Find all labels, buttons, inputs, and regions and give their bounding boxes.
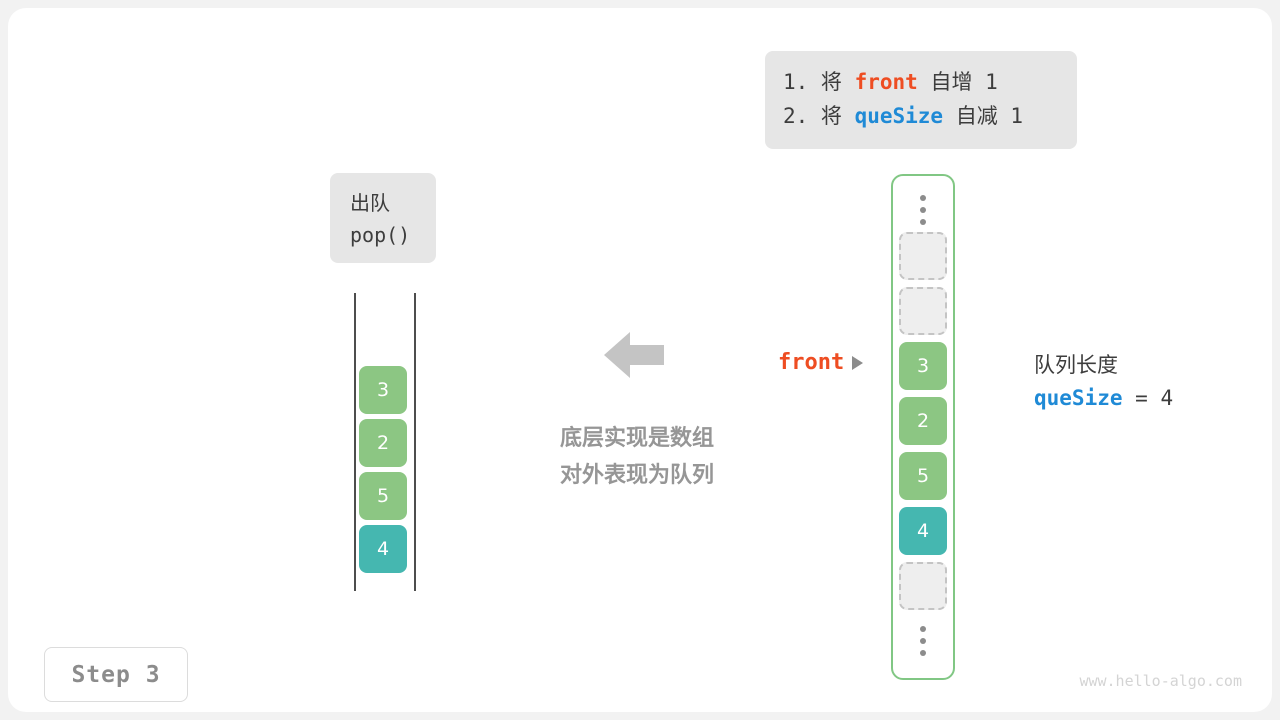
diagram-canvas: 1. 将 front 自增 1 2. 将 queSize 自减 1 出队 pop… bbox=[0, 0, 1280, 720]
array-cell-empty bbox=[899, 287, 947, 335]
array-cell-empty bbox=[899, 562, 947, 610]
step-badge: Step 3 bbox=[44, 647, 188, 702]
queue-cell: 5 bbox=[359, 472, 407, 520]
front-keyword: front bbox=[855, 70, 918, 94]
operation-callout: 1. 将 front 自增 1 2. 将 queSize 自减 1 bbox=[765, 51, 1077, 149]
quesize-variable: queSize bbox=[1034, 386, 1123, 410]
implementation-note-line-1: 底层实现是数组 bbox=[537, 420, 737, 457]
callout-line-1-suffix: 自增 1 bbox=[918, 70, 998, 94]
queue-cell: 4 bbox=[359, 525, 407, 573]
implementation-note-line-2: 对外表现为队列 bbox=[537, 457, 737, 494]
front-pointer: front bbox=[778, 350, 863, 375]
quesize-value: = 4 bbox=[1123, 386, 1174, 410]
queue-size-title: 队列长度 bbox=[1034, 349, 1173, 381]
callout-line-2-prefix: 2. 将 bbox=[783, 104, 855, 128]
pop-label-line-2: pop() bbox=[350, 219, 436, 251]
front-pointer-label: front bbox=[778, 350, 844, 375]
queue-size-equation: queSize = 4 bbox=[1034, 381, 1173, 415]
array-cell: 2 bbox=[899, 397, 947, 445]
watermark: www.hello-algo.com bbox=[1079, 672, 1242, 690]
implementation-note: 底层实现是数组 对外表现为队列 bbox=[537, 420, 737, 494]
array-cell: 3 bbox=[899, 342, 947, 390]
vertical-ellipsis-icon bbox=[920, 619, 926, 663]
array-container: 3 2 5 4 bbox=[891, 174, 955, 680]
triangle-right-icon bbox=[852, 356, 863, 370]
queue-size-note: 队列长度 queSize = 4 bbox=[1034, 349, 1173, 415]
queue-cells: 3 2 5 4 bbox=[359, 366, 407, 578]
callout-line-2-suffix: 自减 1 bbox=[943, 104, 1023, 128]
callout-line-1-prefix: 1. 将 bbox=[783, 70, 855, 94]
array-cell: 4 bbox=[899, 507, 947, 555]
queue-rail-left bbox=[354, 293, 356, 591]
queue-cell: 3 bbox=[359, 366, 407, 414]
left-arrow-icon bbox=[604, 330, 664, 380]
diagram-card: 1. 将 front 自增 1 2. 将 queSize 自减 1 出队 pop… bbox=[8, 8, 1272, 712]
array-cell-empty bbox=[899, 232, 947, 280]
queue-rail-right bbox=[414, 293, 416, 591]
pop-operation-label: 出队 pop() bbox=[330, 173, 436, 263]
pop-label-line-1: 出队 bbox=[350, 187, 436, 219]
callout-line-2: 2. 将 queSize 自减 1 bbox=[765, 99, 1077, 133]
vertical-ellipsis-icon bbox=[920, 188, 926, 232]
queue-cell: 2 bbox=[359, 419, 407, 467]
callout-line-1: 1. 将 front 自增 1 bbox=[765, 65, 1077, 99]
array-cell: 5 bbox=[899, 452, 947, 500]
quesize-keyword: queSize bbox=[855, 104, 944, 128]
